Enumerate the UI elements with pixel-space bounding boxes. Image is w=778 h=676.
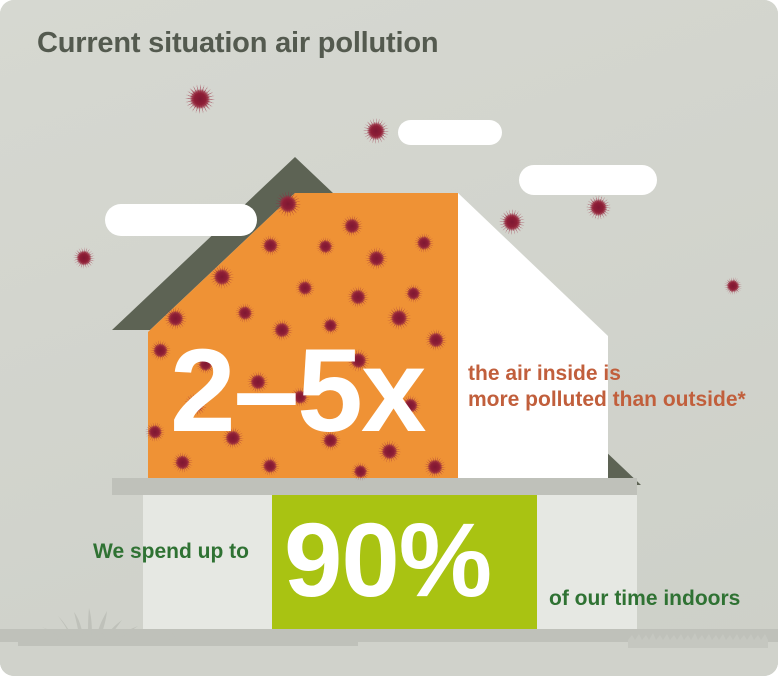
cloud-top-middle (398, 96, 508, 146)
pollution-particle-indoor (235, 303, 255, 323)
pollution-particle-indoor (404, 284, 423, 303)
pollution-particle-indoor (145, 422, 165, 442)
stat-value-time-indoors: 90% (284, 508, 491, 613)
stat-caption-pollution-line2: more polluted than outside* (468, 387, 746, 413)
house-wall-white-fill (458, 193, 608, 478)
pollution-particle-outdoor (586, 195, 611, 220)
pollution-particle-indoor (424, 456, 446, 478)
pollution-particle-outdoor (499, 209, 525, 235)
pollution-particle-indoor (210, 265, 234, 289)
stat-caption-pollution-line1: the air inside is (468, 361, 746, 387)
cloud-top-right (519, 133, 664, 195)
pollution-particle-outdoor (363, 118, 389, 144)
grass-tuft-right (628, 622, 778, 648)
pollution-particle-outdoor (73, 247, 95, 269)
infographic-canvas: Current situation air pollution 2–5x the… (0, 0, 778, 676)
pollution-particle-outdoor (724, 277, 742, 295)
pollution-particle-outdoor (414, 233, 434, 253)
page-title: Current situation air pollution (37, 27, 438, 60)
pollution-particle-indoor (295, 278, 315, 298)
pollution-particle-indoor (425, 329, 447, 351)
stat-caption-pollution: the air inside is more polluted than out… (468, 361, 746, 414)
pollution-particle-outdoor (185, 84, 215, 114)
pollution-particle-indoor (316, 237, 335, 256)
pollution-particle-indoor (260, 456, 280, 476)
cloud-left (105, 170, 265, 236)
stat-suffix-time-indoors: of our time indoors (549, 587, 740, 611)
pollution-particle-indoor (275, 191, 301, 217)
pollution-particle-indoor (260, 235, 281, 256)
pollution-particle-indoor (347, 286, 369, 308)
house-floor-slab (112, 478, 637, 495)
stat-prefix-time-indoors: We spend up to (93, 540, 249, 564)
pollution-particle-indoor (150, 340, 171, 361)
stat-value-pollution-ratio: 2–5x (170, 332, 425, 450)
pollution-particle-indoor (341, 215, 363, 237)
pollution-particle-indoor (365, 247, 388, 270)
pollution-particle-indoor (351, 462, 370, 481)
